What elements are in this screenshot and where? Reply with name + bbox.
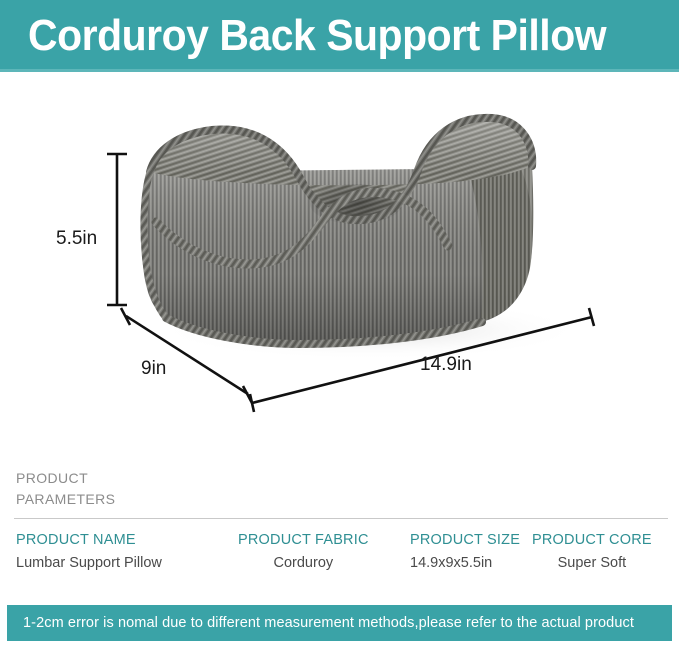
product-image-area <box>0 72 679 450</box>
parameter-column-product-core: PRODUCT CORE Super Soft <box>532 530 652 574</box>
parameter-column-product-size: PRODUCT SIZE 14.9x9x5.5in <box>410 530 520 574</box>
parameter-value: Corduroy <box>238 552 369 574</box>
page-title: Corduroy Back Support Pillow <box>28 13 606 59</box>
parameter-header: PRODUCT CORE <box>532 530 652 550</box>
parameter-header: PRODUCT SIZE <box>410 530 520 550</box>
parameter-value: Lumbar Support Pillow <box>16 552 162 574</box>
parameter-header: PRODUCT FABRIC <box>238 530 369 550</box>
title-banner: Corduroy Back Support Pillow <box>0 0 679 72</box>
parameter-header: PRODUCT NAME <box>16 530 162 550</box>
measurement-note-text: 1-2cm error is nomal due to different me… <box>23 615 634 631</box>
parameters-table: PRODUCT NAME Lumbar Support Pillow PRODU… <box>0 530 679 590</box>
parameter-value: Super Soft <box>532 552 652 574</box>
parameter-value: 14.9x9x5.5in <box>410 552 520 574</box>
parameters-heading: PRODUCT PARAMETERS <box>16 468 136 510</box>
measurement-note-banner: 1-2cm error is nomal due to different me… <box>7 605 672 641</box>
parameters-divider <box>14 518 668 519</box>
product-infographic-page: Corduroy Back Support Pillow <box>0 0 679 646</box>
product-pillow-illustration <box>0 72 679 450</box>
parameter-column-product-fabric: PRODUCT FABRIC Corduroy <box>238 530 369 574</box>
parameter-column-product-name: PRODUCT NAME Lumbar Support Pillow <box>16 530 162 574</box>
